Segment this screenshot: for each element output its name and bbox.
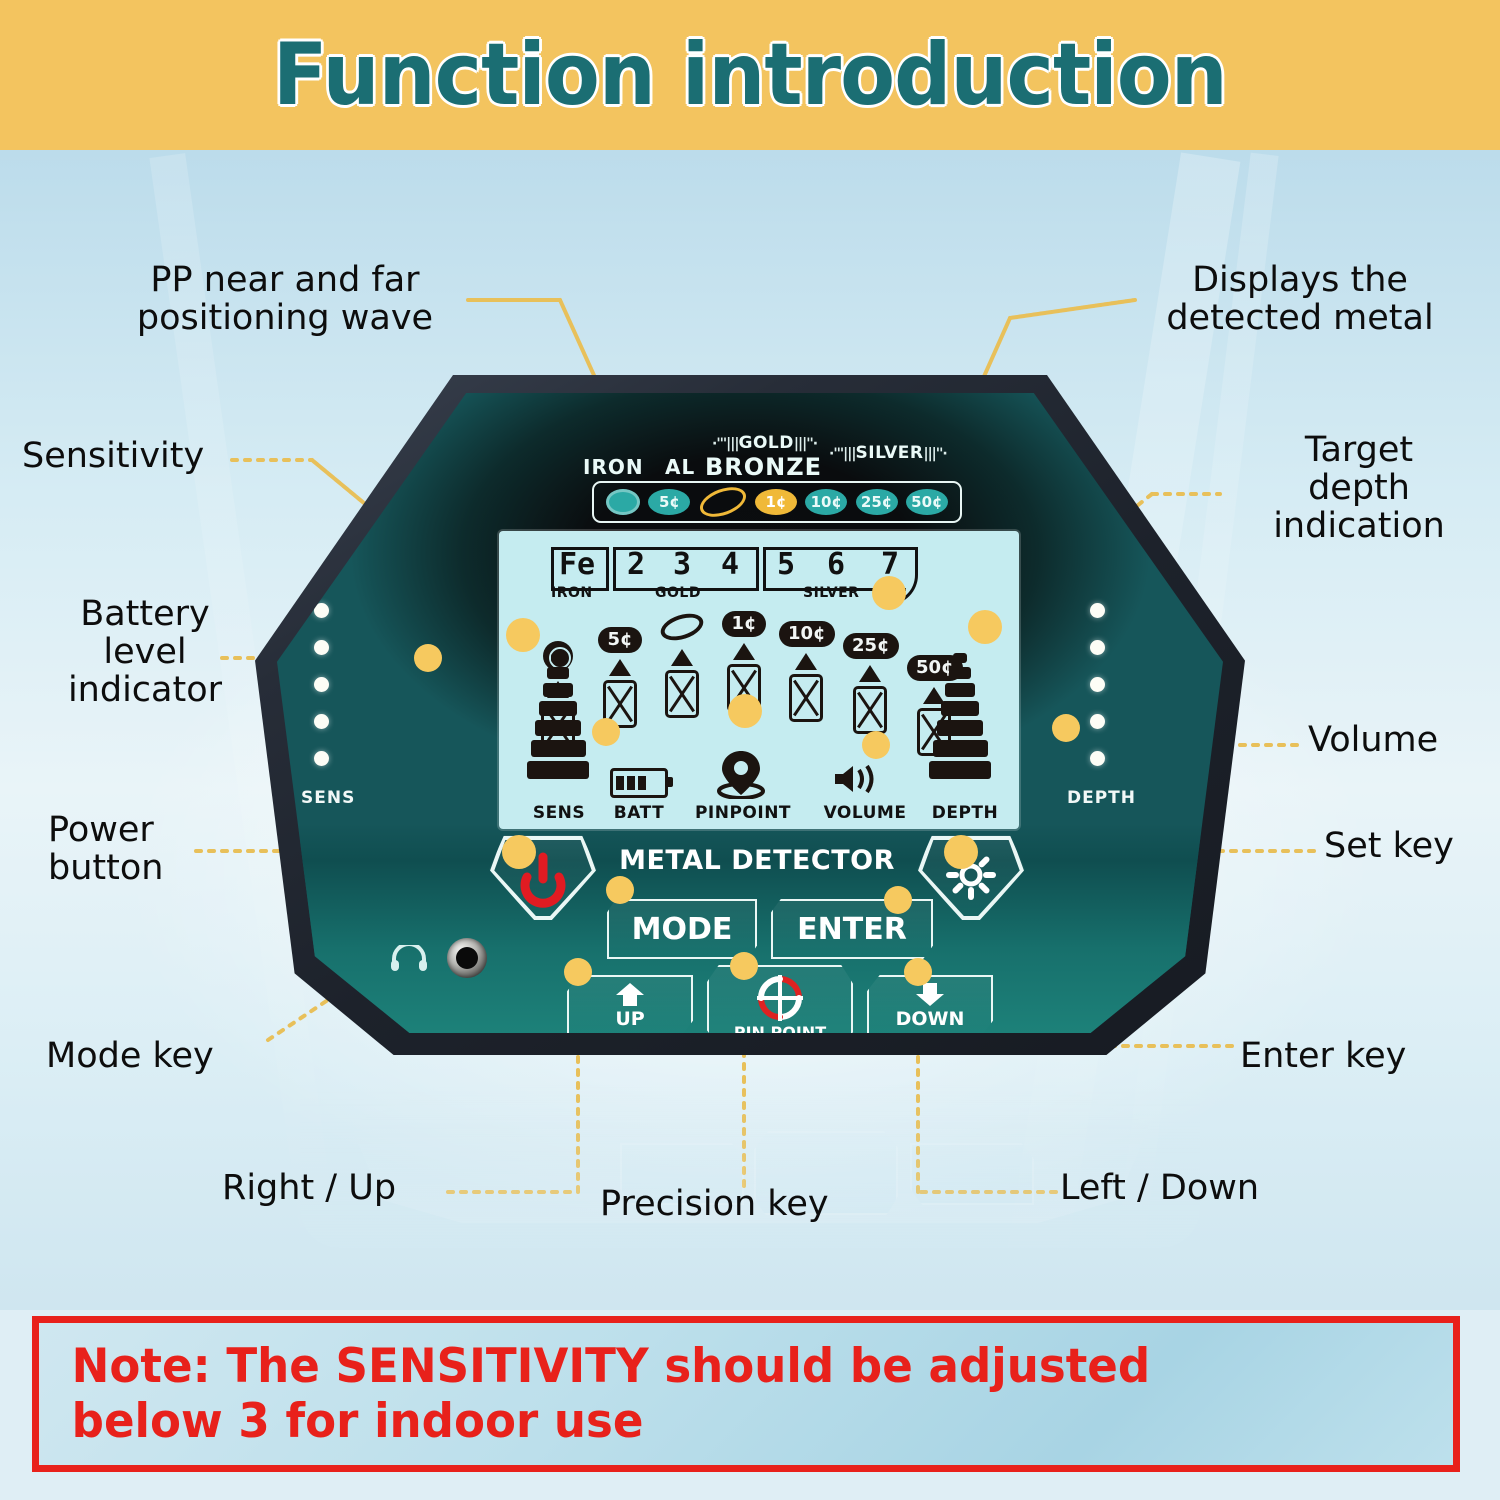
infographic-page: Function introduction: [0, 0, 1500, 1500]
headphone-jack[interactable]: [447, 938, 487, 978]
scale-num-5: 5: [777, 549, 795, 581]
bezel-coin-1c: 1¢: [755, 489, 797, 515]
callout-node-up: [564, 958, 592, 986]
gold-text: GOLD: [739, 433, 794, 453]
pinpoint-icon: [709, 749, 773, 803]
lcd-label-pinpoint: PINPOINT: [685, 803, 801, 823]
metal-type-labels: IRON AL ·'''|||GOLD|||''· BRONZE ·'''|||…: [557, 433, 977, 479]
indicator-triangle: [609, 659, 631, 676]
down-button-label: DOWN: [896, 1008, 965, 1030]
bezel-bottlecap-icon: [606, 489, 640, 515]
callout-node-down: [904, 958, 932, 986]
callout-node-sensitivity: [506, 618, 540, 652]
callout-left-down: Left / Down: [1060, 1170, 1360, 1208]
note-text: Note: The SENSITIVITY should be adjusted…: [39, 1339, 1183, 1450]
callout-node-mode-key: [606, 876, 634, 904]
bezel-coin-strip: 5¢ 1¢ 10¢ 25¢ 50¢: [592, 481, 962, 523]
ring-icon: [657, 609, 706, 645]
callout-node-power: [502, 835, 536, 869]
battery-icon: [609, 768, 669, 801]
callout-power-button: Power button: [48, 812, 268, 888]
pinpoint-button[interactable]: PIN POINT: [707, 965, 853, 1033]
crosshair-icon: [753, 973, 807, 1023]
scale-num-2: 2: [627, 549, 645, 581]
callout-set-key: Set key: [1324, 828, 1500, 866]
depth-led: [1090, 603, 1105, 618]
mode-button-label: MODE: [632, 912, 733, 947]
sens-led: [314, 677, 329, 692]
tick-marks-right: |||''·: [794, 436, 817, 452]
callout-node-detected-metal: [872, 576, 906, 610]
label-gold: ·'''|||GOLD|||''·: [712, 433, 817, 453]
callout-node-set-key: [944, 835, 978, 869]
reflection-key: [910, 1143, 1034, 1205]
callout-node-target-depth: [968, 610, 1002, 644]
callout-enter-key: Enter key: [1240, 1038, 1490, 1076]
reject-x-box: [853, 686, 887, 734]
label-al: AL: [665, 455, 695, 479]
sens-led: [314, 751, 329, 766]
bezel-coin-10c: 10¢: [805, 489, 847, 515]
target-cell-5c: 5¢: [593, 627, 647, 728]
callout-node-depth-led: [1052, 714, 1080, 742]
indicator-triangle: [733, 643, 755, 660]
depth-led: [1090, 640, 1105, 655]
up-button[interactable]: UP: [567, 975, 693, 1033]
scale-label-iron: IRON: [551, 585, 593, 601]
sens-led: [314, 640, 329, 655]
callout-right-up: Right / Up: [222, 1170, 472, 1208]
indicator-triangle: [671, 649, 693, 666]
depth-led: [1090, 751, 1105, 766]
callout-precision-key: Precision key: [600, 1186, 910, 1224]
callout-node-volume: [862, 731, 890, 759]
bezel-coin-50c: 50¢: [906, 489, 948, 515]
indicator-triangle: [859, 665, 881, 682]
sens-led: [314, 714, 329, 729]
lcd-label-batt: BATT: [603, 803, 675, 823]
lcd-label-volume: VOLUME: [817, 803, 913, 823]
volume-speaker-icon: [831, 763, 889, 799]
callout-node-sens-led: [414, 644, 442, 672]
label-bronze: BRONZE: [705, 453, 822, 481]
callout-mode-key: Mode key: [46, 1038, 306, 1076]
lcd-status-row: SENS BATT PINPOINT: [499, 757, 1019, 823]
target-cell-ring: [655, 615, 709, 718]
callout-displays-metal: Displays the detected metal: [1130, 262, 1470, 338]
depth-led: [1090, 714, 1105, 729]
target-label-1c: 1¢: [722, 611, 765, 637]
callout-node-battery: [592, 718, 620, 746]
reject-x-box: [665, 670, 699, 718]
scale-num-6: 6: [827, 549, 845, 581]
up-button-label: UP: [615, 1008, 644, 1030]
target-label-10c: 10¢: [779, 621, 835, 647]
callout-target-depth: Target depth indication: [1228, 432, 1490, 545]
label-iron: IRON: [583, 455, 644, 479]
lcd-label-sens: SENS: [521, 803, 597, 823]
bezel-coin-5c: 5¢: [648, 489, 690, 515]
lcd-display: Fe 2 3 4 5 6 7 IRON GOLD SILVER: [499, 531, 1019, 829]
target-id-scale: Fe 2 3 4 5 6 7 IRON GOLD SILVER: [551, 547, 971, 599]
label-silver: ·'''|||SILVER|||''·: [829, 443, 947, 463]
target-cell-25c: 25¢: [843, 633, 897, 734]
indicator-triangle: [795, 653, 817, 670]
callout-node-enter-key: [884, 886, 912, 914]
sens-led-label: SENS: [301, 788, 341, 808]
tick-marks-left: ·'''|||: [829, 446, 856, 462]
scale-num-4: 4: [721, 549, 739, 581]
mode-button[interactable]: MODE: [607, 899, 757, 959]
scale-num-3: 3: [673, 549, 691, 581]
scale-fe: Fe: [559, 549, 595, 581]
callout-node-pinpoint: [728, 694, 762, 728]
depth-led-label: DEPTH: [1067, 788, 1127, 808]
tick-marks-right: |||''·: [923, 446, 946, 462]
scale-label-silver: SILVER: [803, 585, 859, 601]
bezel-coin-25c: 25¢: [856, 489, 898, 515]
arrow-up-icon: [613, 982, 647, 1008]
callout-battery: Battery level indicator: [20, 596, 270, 709]
note-box: Note: The SENSITIVITY should be adjusted…: [32, 1316, 1460, 1472]
headphone-icon: [389, 945, 429, 971]
tick-marks-left: ·'''|||: [712, 436, 739, 452]
sens-led-column: SENS: [301, 603, 341, 808]
device-brand-label: METAL DETECTOR: [607, 845, 907, 876]
callout-sensitivity: Sensitivity: [22, 438, 242, 476]
depth-led-column: DEPTH: [1067, 603, 1127, 808]
bezel-ring-icon: [696, 482, 750, 523]
target-label-25c: 25¢: [843, 633, 899, 659]
target-cell-10c: 10¢: [779, 621, 833, 722]
pinpoint-button-label: PIN POINT: [734, 1023, 826, 1034]
target-label-5c: 5¢: [598, 627, 641, 653]
callout-volume: Volume: [1308, 722, 1498, 760]
silver-text: SILVER: [856, 443, 924, 463]
lcd-label-depth: DEPTH: [923, 803, 1007, 823]
callout-node-precision: [730, 952, 758, 980]
page-header: Function introduction: [0, 0, 1500, 150]
down-button[interactable]: DOWN: [867, 975, 993, 1033]
callout-pp-wave: PP near and far positioning wave: [100, 262, 470, 338]
scale-label-gold: GOLD: [655, 585, 701, 601]
enter-button-label: ENTER: [797, 912, 907, 947]
depth-led: [1090, 677, 1105, 692]
page-title: Function introduction: [273, 25, 1227, 125]
reject-x-box: [789, 674, 823, 722]
